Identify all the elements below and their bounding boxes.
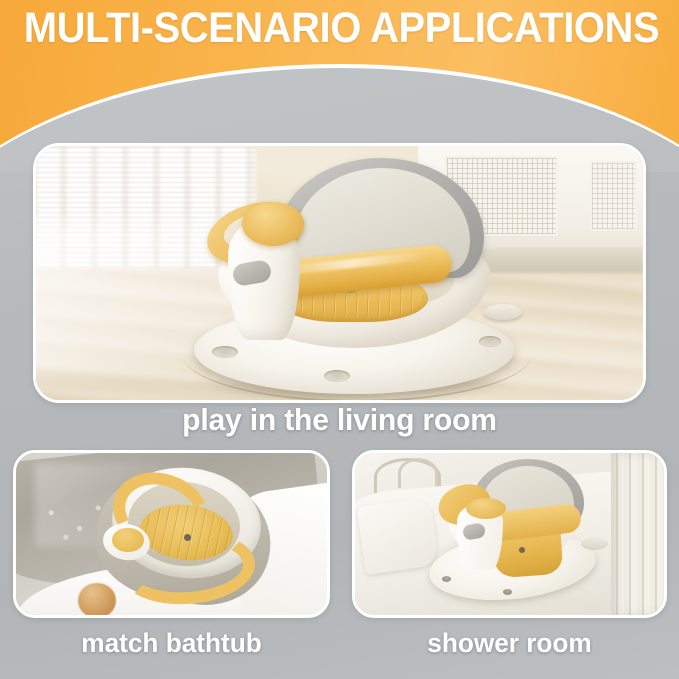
page-title: MULTI-SCENARIO APPLICATIONS bbox=[24, 4, 655, 53]
shower-hose-loop-secondary bbox=[398, 458, 438, 489]
caption-bathtub: match bathtub bbox=[18, 628, 325, 659]
wall-slat-panel bbox=[611, 453, 664, 615]
suction-cup bbox=[484, 304, 522, 320]
photo-bathtub[interactable] bbox=[13, 450, 330, 618]
infographic-page: MULTI-SCENARIO APPLICATIONS bbox=[0, 0, 679, 679]
bathtub-scene bbox=[16, 453, 327, 615]
base-foot bbox=[442, 576, 451, 582]
base-drain-hole bbox=[212, 346, 238, 358]
seat-pad-fastener bbox=[519, 547, 525, 553]
bath-seat-product bbox=[184, 158, 524, 398]
caption-shower-room: shower room bbox=[357, 628, 663, 659]
cabinet-rattan-panel-secondary bbox=[590, 161, 636, 231]
photo-shower-room[interactable] bbox=[352, 450, 667, 618]
base-drain-hole bbox=[479, 336, 501, 347]
shower-room-scene bbox=[355, 453, 664, 615]
caption-living-room: play in the living room bbox=[10, 402, 669, 438]
photo-living-room[interactable] bbox=[33, 143, 646, 403]
base-drain-hole bbox=[324, 370, 350, 382]
release-knob bbox=[242, 202, 304, 246]
living-room-scene bbox=[36, 146, 643, 400]
release-knob bbox=[112, 528, 143, 552]
bath-toy bbox=[78, 583, 115, 615]
